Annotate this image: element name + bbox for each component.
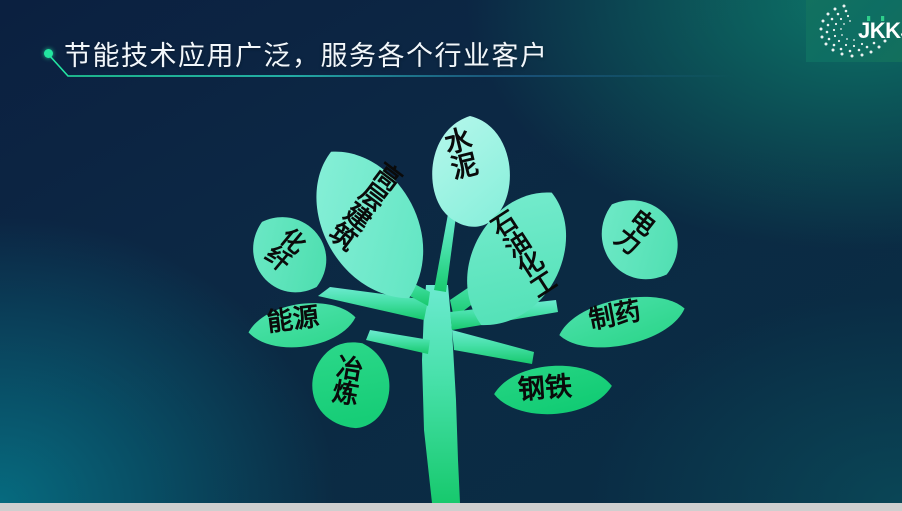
logo-wordmark: JKKJ xyxy=(858,18,902,43)
leaf-label-gangtie: 钢铁 xyxy=(517,373,573,404)
leaf-label-yelian: 冶炼 xyxy=(328,352,363,406)
window-bottom-edge xyxy=(0,503,902,511)
leaf-label-nengyuan: 能源 xyxy=(266,304,321,337)
page-title: 节能技术应用广泛，服务各个行业客户 xyxy=(64,34,549,73)
slide-canvas: 水泥 高层建筑 石油化工 电力 化纤 能源 制药 冶炼 钢铁 节能技术应用广泛，… xyxy=(0,0,902,503)
logo-mark-icon: JKKJ xyxy=(806,0,902,62)
page-title-block: 节能技术应用广泛，服务各个行业客户 xyxy=(44,36,764,88)
company-logo[interactable]: JKKJ xyxy=(806,0,902,62)
title-accent-dot xyxy=(44,49,53,58)
